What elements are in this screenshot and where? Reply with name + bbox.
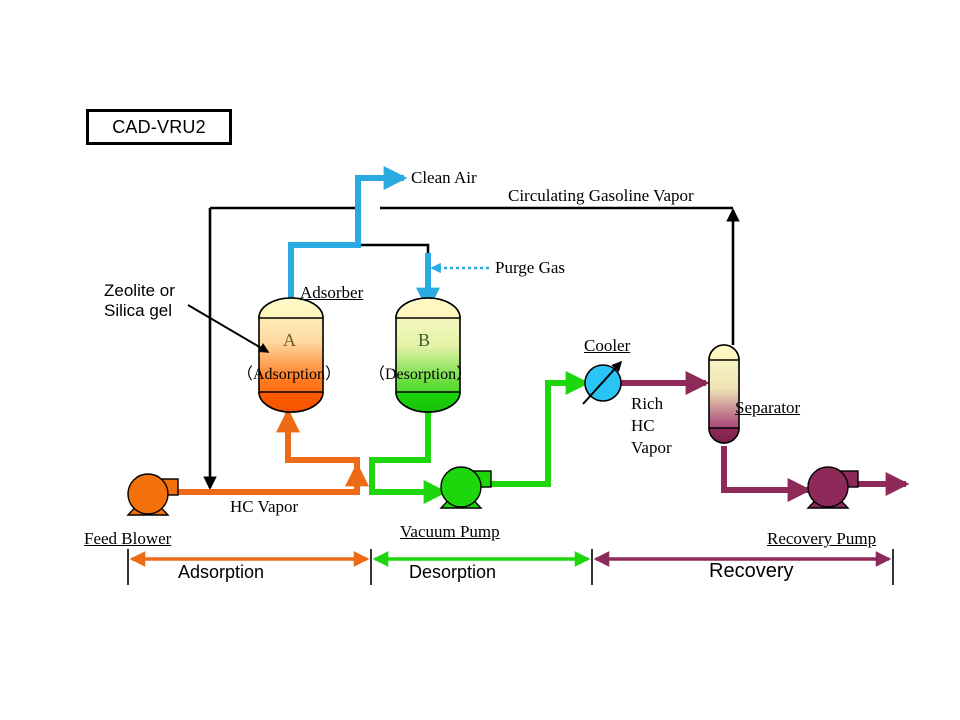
label-circulating-gasoline-vapor: Circulating Gasoline Vapor — [508, 186, 694, 206]
label-vessel-b-mode: （Desorption） — [369, 360, 472, 384]
process-flow-diagram — [0, 0, 960, 720]
label-phase-adsorption: Adsorption — [178, 562, 264, 583]
adsorber-vessel-b[interactable] — [396, 298, 460, 412]
label-vacuum-pump: Vacuum Pump — [400, 522, 500, 542]
feed-blower-unit[interactable] — [128, 474, 178, 515]
label-purge-gas: Purge Gas — [495, 258, 565, 278]
label-vessel-b-tag: B — [418, 330, 430, 351]
drawing-title-box: CAD-VRU2 — [86, 109, 232, 145]
label-clean-air: Clean Air — [411, 168, 477, 188]
label-packing-material: Zeolite or Silica gel — [104, 281, 175, 321]
label-adsorber-header: Adsorber — [300, 283, 363, 303]
pipe-adsorber-crossover — [358, 245, 428, 268]
separator-vessel[interactable] — [709, 345, 739, 443]
drawing-title-label: CAD-VRU2 — [112, 117, 206, 138]
recovery-pump-unit[interactable] — [808, 467, 858, 508]
label-vessel-a-tag: A — [283, 330, 296, 351]
label-hc-vapor: HC Vapor — [230, 497, 298, 517]
stream-hc-vapor-to-adsorber — [172, 412, 357, 492]
label-feed-blower: Feed Blower — [84, 529, 171, 549]
label-separator: Separator — [735, 398, 800, 418]
label-recovery-pump: Recovery Pump — [767, 529, 876, 549]
label-vessel-a-mode: （Adsorption） — [237, 360, 341, 384]
adsorber-vessel-a[interactable] — [259, 298, 323, 412]
vacuum-pump-unit[interactable] — [441, 467, 491, 508]
stream-desorbed-to-vacuum-pump — [372, 412, 444, 492]
label-phase-recovery: Recovery — [709, 560, 793, 583]
diagram-canvas: CAD-VRU2 Clean Air Circulating Gasoline … — [0, 0, 960, 720]
packing-material-pointer — [188, 305, 268, 352]
stream-vacuum-discharge-to-cooler — [489, 383, 586, 484]
label-rich-hc-vapor: Rich HC Vapor — [631, 393, 672, 459]
label-cooler: Cooler — [584, 336, 630, 356]
stream-separator-liquid-to-pump — [724, 446, 808, 490]
label-phase-desorption: Desorption — [409, 562, 496, 583]
cooler-unit[interactable] — [583, 362, 621, 404]
